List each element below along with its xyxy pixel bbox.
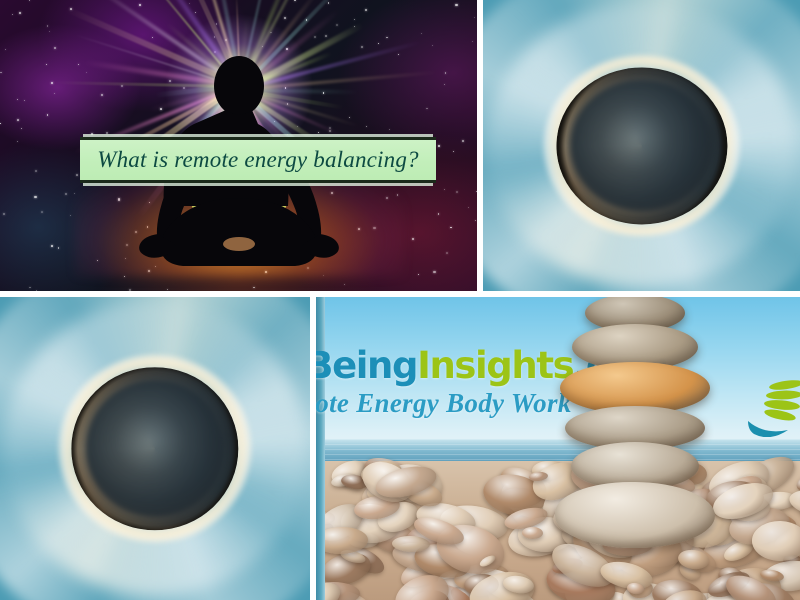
title-banner-text: What is remote energy balancing? (97, 147, 419, 173)
planet-rim (71, 367, 238, 531)
little-planet-scene (0, 297, 310, 600)
panel-meditation-cosmos: What is remote energy balancing? (0, 0, 477, 291)
image-collage: What is remote energy balancing? (0, 0, 800, 600)
palm-leaf-icon (746, 379, 800, 437)
panel-little-planet-bottom-left (0, 297, 310, 600)
brand-name-part-1: lBeing (316, 344, 417, 387)
little-planet-scene (483, 0, 800, 291)
panel-little-planet-top-right (483, 0, 800, 291)
panel-beach-brand-banner: lBeingInsights.com mote Energy Body Work (316, 297, 800, 600)
planet-disc (556, 67, 727, 224)
planet-disc (71, 367, 238, 531)
planet-rim (556, 67, 727, 224)
cairn-stone (555, 482, 715, 548)
left-edge-rail (316, 297, 325, 600)
brand-name-part-2: Insights (417, 344, 573, 387)
title-banner: What is remote energy balancing? (80, 137, 436, 183)
stacked-stone-cairn (547, 297, 722, 542)
